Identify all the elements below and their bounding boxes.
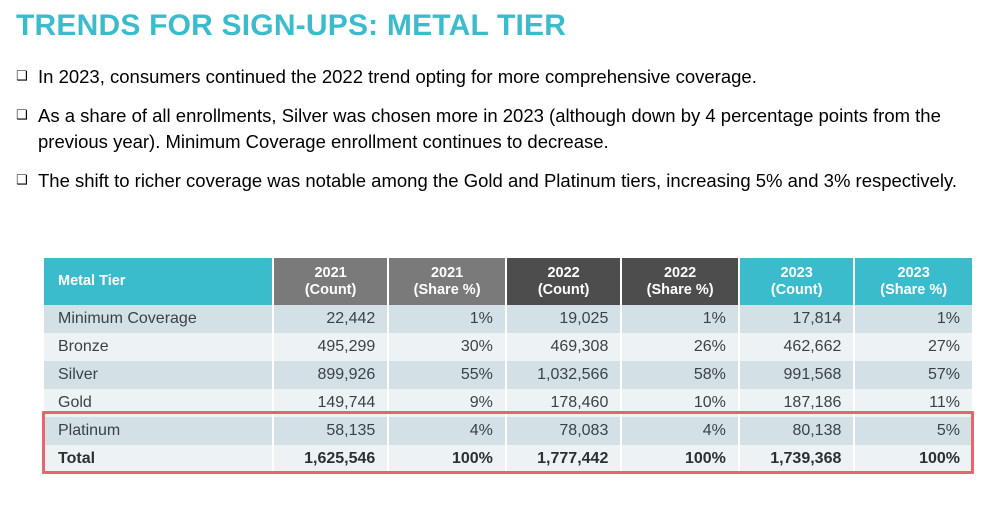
column-header-2021-share: 2021 (Share %) xyxy=(388,258,506,305)
cell-2023-share: 5% xyxy=(854,417,972,445)
header-line2: (Share %) xyxy=(622,282,738,299)
cell-2021-count: 149,744 xyxy=(273,389,388,417)
column-header-2021-count: 2021 (Count) xyxy=(273,258,388,305)
table-body: Minimum Coverage 22,442 1% 19,025 1% 17,… xyxy=(44,305,972,473)
header-line1: Metal Tier xyxy=(58,273,272,290)
cell-2023-count: 991,568 xyxy=(739,361,854,389)
cell-2023-count: 187,186 xyxy=(739,389,854,417)
cell-2023-share: 27% xyxy=(854,333,972,361)
cell-2021-count: 22,442 xyxy=(273,305,388,333)
list-item: ❑ As a share of all enrollments, Silver … xyxy=(12,103,972,155)
cell-2023-share: 100% xyxy=(854,445,972,473)
square-bullet-icon: ❑ xyxy=(12,103,38,129)
cell-2022-count: 78,083 xyxy=(506,417,621,445)
header-line1: 2021 xyxy=(389,265,505,282)
cell-2023-share: 1% xyxy=(854,305,972,333)
header-line1: 2021 xyxy=(274,265,387,282)
cell-2022-share: 26% xyxy=(621,333,739,361)
header-line1: 2022 xyxy=(622,265,738,282)
cell-2023-count: 80,138 xyxy=(739,417,854,445)
table-row: Silver 899,926 55% 1,032,566 58% 991,568… xyxy=(44,361,972,389)
table-row-gold: Gold 149,744 9% 178,460 10% 187,186 11% xyxy=(44,389,972,417)
cell-2022-count: 1,032,566 xyxy=(506,361,621,389)
header-line2: (Count) xyxy=(740,282,853,299)
cell-2021-count: 58,135 xyxy=(273,417,388,445)
bullet-text: As a share of all enrollments, Silver wa… xyxy=(38,103,972,155)
cell-2021-count: 1,625,546 xyxy=(273,445,388,473)
table-header-row: Metal Tier 2021 (Count) 2021 (Share %) 2… xyxy=(44,258,972,305)
cell-tier: Silver xyxy=(44,361,273,389)
cell-2022-share: 100% xyxy=(621,445,739,473)
column-header-2022-count: 2022 (Count) xyxy=(506,258,621,305)
cell-2023-share: 11% xyxy=(854,389,972,417)
cell-2022-count: 178,460 xyxy=(506,389,621,417)
cell-2021-share: 9% xyxy=(388,389,506,417)
cell-2021-count: 899,926 xyxy=(273,361,388,389)
cell-tier: Gold xyxy=(44,389,273,417)
cell-2021-share: 100% xyxy=(388,445,506,473)
table-row-platinum: Platinum 58,135 4% 78,083 4% 80,138 5% xyxy=(44,417,972,445)
header-line1: 2022 xyxy=(507,265,620,282)
header-line2: (Count) xyxy=(507,282,620,299)
header-line1: 2023 xyxy=(740,265,853,282)
bullet-text: In 2023, consumers continued the 2022 tr… xyxy=(38,64,972,90)
cell-2023-count: 17,814 xyxy=(739,305,854,333)
header-line1: 2023 xyxy=(855,265,972,282)
cell-2022-share: 10% xyxy=(621,389,739,417)
cell-tier: Bronze xyxy=(44,333,273,361)
cell-2022-count: 469,308 xyxy=(506,333,621,361)
cell-2022-count: 19,025 xyxy=(506,305,621,333)
cell-2021-share: 1% xyxy=(388,305,506,333)
table-row: Bronze 495,299 30% 469,308 26% 462,662 2… xyxy=(44,333,972,361)
cell-2021-count: 495,299 xyxy=(273,333,388,361)
cell-2021-share: 30% xyxy=(388,333,506,361)
cell-2023-share: 57% xyxy=(854,361,972,389)
cell-2022-share: 4% xyxy=(621,417,739,445)
page-title: TRENDS FOR SIGN-UPS: METAL TIER xyxy=(16,9,566,43)
cell-tier: Platinum xyxy=(44,417,273,445)
bullet-text: The shift to richer coverage was notable… xyxy=(38,168,972,194)
cell-2023-count: 1,739,368 xyxy=(739,445,854,473)
column-header-2023-share: 2023 (Share %) xyxy=(854,258,972,305)
cell-2023-count: 462,662 xyxy=(739,333,854,361)
header-line2: (Share %) xyxy=(855,282,972,299)
column-header-2022-share: 2022 (Share %) xyxy=(621,258,739,305)
cell-2022-count: 1,777,442 xyxy=(506,445,621,473)
list-item: ❑ The shift to richer coverage was notab… xyxy=(12,168,972,194)
cell-tier: Minimum Coverage xyxy=(44,305,273,333)
cell-2021-share: 4% xyxy=(388,417,506,445)
cell-2022-share: 1% xyxy=(621,305,739,333)
table-row: Minimum Coverage 22,442 1% 19,025 1% 17,… xyxy=(44,305,972,333)
bullet-list: ❑ In 2023, consumers continued the 2022 … xyxy=(12,64,972,207)
square-bullet-icon: ❑ xyxy=(12,64,38,90)
cell-tier: Total xyxy=(44,445,273,473)
header-line2: (Share %) xyxy=(389,282,505,299)
header-line2: (Count) xyxy=(274,282,387,299)
cell-2022-share: 58% xyxy=(621,361,739,389)
cell-2021-share: 55% xyxy=(388,361,506,389)
table-header: Metal Tier 2021 (Count) 2021 (Share %) 2… xyxy=(44,258,972,305)
column-header-metal-tier: Metal Tier xyxy=(44,258,273,305)
list-item: ❑ In 2023, consumers continued the 2022 … xyxy=(12,64,972,90)
metal-tier-table: Metal Tier 2021 (Count) 2021 (Share %) 2… xyxy=(44,258,972,473)
column-header-2023-count: 2023 (Count) xyxy=(739,258,854,305)
table-row-total: Total 1,625,546 100% 1,777,442 100% 1,73… xyxy=(44,445,972,473)
square-bullet-icon: ❑ xyxy=(12,168,38,194)
